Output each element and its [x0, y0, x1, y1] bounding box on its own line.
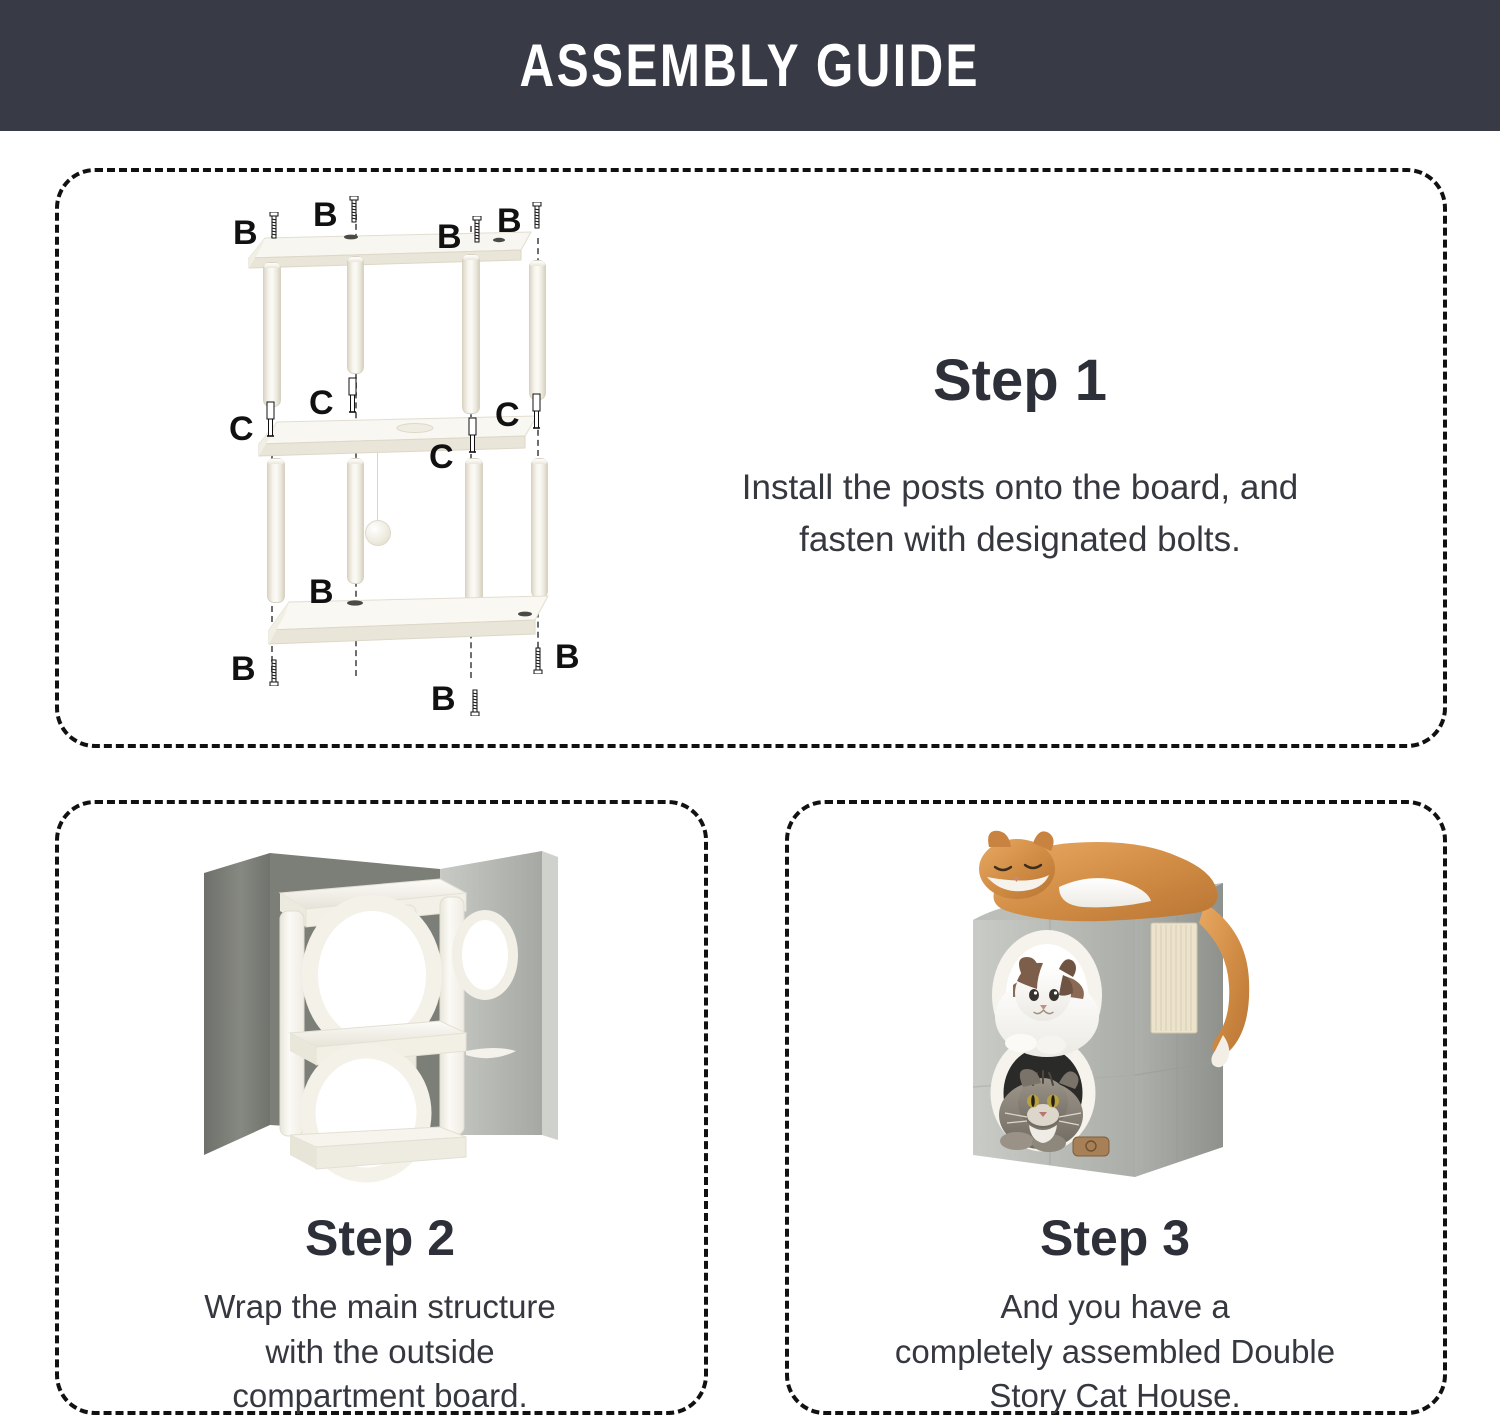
step-3-text-block: Step 3 And you have a completely assembl… [795, 1213, 1435, 1419]
step-1-text-block: Step 1 Install the posts onto the board,… [640, 352, 1400, 566]
post-upper-right [529, 260, 546, 400]
board-bottom [243, 590, 568, 650]
step-2-body: Wrap the main structure with the outside… [70, 1285, 690, 1419]
step-3-title: Step 3 [795, 1213, 1435, 1263]
step-2-illustration [140, 835, 640, 1205]
page-header: ASSEMBLY GUIDE [0, 0, 1500, 131]
dowel-icon [265, 400, 276, 440]
part-label-dowel-3: C [429, 440, 454, 474]
part-label-dowel-4: C [495, 398, 520, 432]
toy-string [377, 452, 378, 522]
step-3-body: And you have a completely assembled Doub… [795, 1285, 1435, 1419]
part-label-bolt-top-2: B [313, 198, 338, 232]
post-lower-left [267, 458, 285, 603]
page-title: ASSEMBLY GUIDE [520, 31, 980, 100]
bolt-icon [470, 216, 484, 250]
post-lower-mid [347, 458, 364, 584]
bolt-icon [347, 196, 361, 230]
post-upper-right-inner [462, 254, 480, 414]
dowel-icon [347, 376, 358, 416]
post-lower-right [531, 458, 548, 598]
finished-cat-house-svg [955, 825, 1285, 1210]
step-1-body-line: fasten with designated bolts. [640, 514, 1400, 566]
part-label-bolt-bottom-3: B [555, 640, 580, 674]
step-1-body-line: Install the posts onto the board, and [640, 462, 1400, 514]
bolt-icon [267, 652, 281, 686]
step-3-body-line: Story Cat House. [795, 1374, 1435, 1419]
dowel-icon [467, 416, 478, 456]
part-label-bolt-top-4: B [497, 204, 522, 238]
part-label-bolt-top-1: B [233, 216, 258, 250]
step-1-title: Step 1 [640, 352, 1400, 410]
bolt-icon [531, 640, 545, 674]
dowel-icon [531, 392, 542, 432]
step-2-body-line: with the outside [70, 1330, 690, 1375]
bolt-icon [468, 682, 482, 716]
part-label-bolt-bottom-side: B [309, 575, 334, 609]
step-3-illustration [955, 825, 1285, 1210]
wrapped-structure-svg [140, 835, 640, 1205]
part-label-bolt-bottom-2: B [431, 682, 456, 716]
assembly-guide-page: ASSEMBLY GUIDE [0, 0, 1500, 1427]
pompom-toy [365, 520, 391, 546]
step-2-body-line: Wrap the main structure [70, 1285, 690, 1330]
step-2-body-line: compartment board. [70, 1374, 690, 1419]
part-label-bolt-top-3: B [437, 220, 462, 254]
step-2-title: Step 2 [70, 1213, 690, 1263]
post-upper-mid [347, 256, 364, 374]
post-upper-left [263, 262, 281, 407]
bolt-icon [530, 202, 544, 236]
exploded-diagram: B B B [225, 190, 595, 730]
part-label-bolt-bottom-1: B [231, 652, 256, 686]
part-label-dowel-2: C [309, 386, 334, 420]
step-3-body-line: And you have a [795, 1285, 1435, 1330]
bolt-icon [267, 212, 281, 246]
step-3-body-line: completely assembled Double [795, 1330, 1435, 1375]
step-2-text-block: Step 2 Wrap the main structure with the … [70, 1213, 690, 1419]
step-1-body: Install the posts onto the board, and fa… [640, 462, 1400, 566]
part-label-dowel-1: C [229, 412, 254, 446]
